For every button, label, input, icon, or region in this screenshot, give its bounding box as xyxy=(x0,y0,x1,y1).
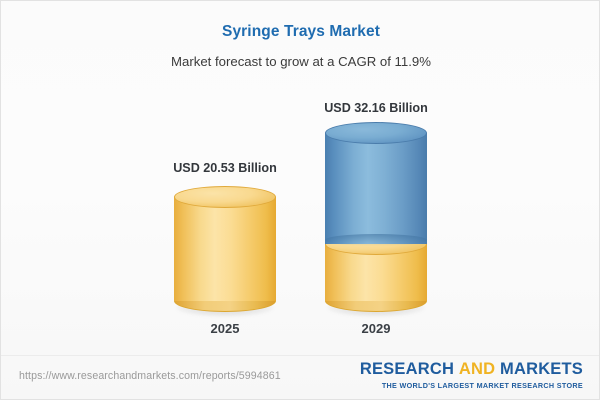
bar-group-2025: USD 20.53 Billion 2025 xyxy=(174,81,276,346)
footer-divider xyxy=(1,355,600,356)
brand-word-markets: MARKETS xyxy=(500,360,583,378)
bar-value-label-2029: USD 32.16 Billion xyxy=(266,101,486,115)
report-url[interactable]: https://www.researchandmarkets.com/repor… xyxy=(19,370,281,382)
bar-segment-seam-2029 xyxy=(325,234,427,246)
brand-word-research: RESEARCH xyxy=(360,360,454,378)
bar-top-cap-2029 xyxy=(325,122,427,144)
bar-segment-growth-2029 xyxy=(325,133,427,244)
bar-cylinder-2025[interactable] xyxy=(174,186,276,311)
bar-cylinder-2029[interactable] xyxy=(325,122,427,311)
page-title: Syringe Trays Market xyxy=(1,23,600,41)
brand-wordmark: RESEARCH AND MARKETS xyxy=(360,361,583,378)
plot-area: USD 20.53 Billion 2025 USD 32.16 Billion xyxy=(1,81,600,346)
chart-canvas: Syringe Trays Market Market forecast to … xyxy=(0,0,600,400)
brand-logo[interactable]: RESEARCH AND MARKETS THE WORLD'S LARGEST… xyxy=(360,361,583,390)
bar-top-cap-2025 xyxy=(174,186,276,208)
chart-subtitle: Market forecast to grow at a CAGR of 11.… xyxy=(1,54,600,69)
bar-group-2029: USD 32.16 Billion 2029 xyxy=(325,81,427,346)
category-label-2029: 2029 xyxy=(266,321,486,336)
brand-word-and: AND xyxy=(459,360,495,378)
bar-value-label-2025: USD 20.53 Billion xyxy=(115,161,335,175)
brand-tagline: THE WORLD'S LARGEST MARKET RESEARCH STOR… xyxy=(360,381,583,390)
bar-body-2025 xyxy=(174,197,276,301)
